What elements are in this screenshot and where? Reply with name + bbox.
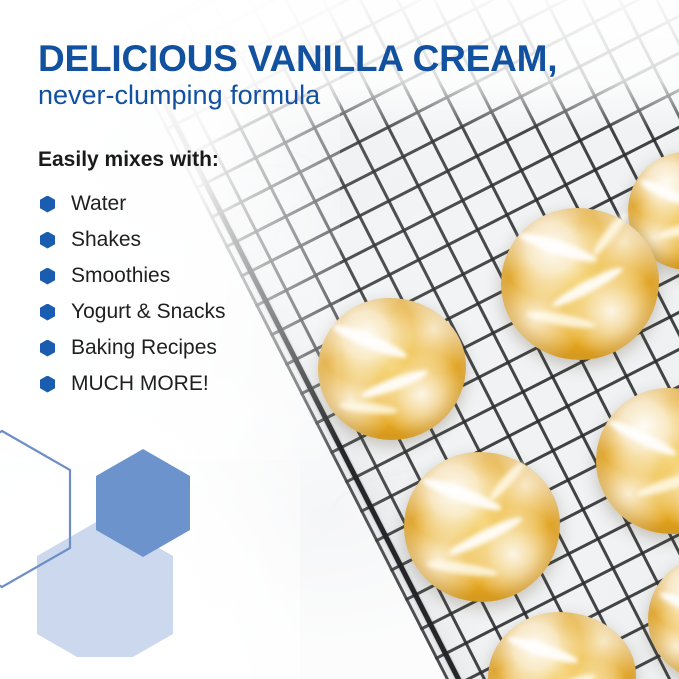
hexagon-bullet-icon	[40, 196, 55, 213]
cookie-crack	[506, 633, 580, 667]
cookie-crack	[638, 177, 679, 209]
cookie-crack	[590, 210, 631, 258]
hexagon-bullet-icon	[40, 376, 55, 393]
feature-list: Water Shakes Smoothies Yogurt & Snacks B…	[40, 186, 320, 402]
list-item: Baking Recipes	[40, 330, 320, 366]
cookie-crack	[526, 308, 596, 331]
cookie-crack	[425, 558, 498, 579]
page-title: DELICIOUS VANILLA CREAM,	[38, 38, 557, 80]
list-item: Shakes	[40, 222, 320, 258]
cookie	[318, 298, 466, 440]
list-item: Smoothies	[40, 258, 320, 294]
list-item: Water	[40, 186, 320, 222]
cookie-crack	[517, 229, 599, 267]
cookie-crack	[487, 459, 528, 503]
cookie-crack	[606, 416, 679, 460]
list-item-label: MUCH MORE!	[71, 372, 209, 396]
list-item-label: Smoothies	[71, 264, 170, 288]
hexagon-bullet-icon	[40, 232, 55, 249]
cookie-crack	[550, 263, 625, 311]
cookie-crack	[635, 469, 679, 500]
list-item-label: Water	[71, 192, 126, 216]
list-item: MUCH MORE!	[40, 366, 320, 402]
cookie-crack	[338, 400, 398, 416]
cookie-crack	[360, 366, 431, 402]
hexagon-bullet-icon	[40, 268, 55, 285]
cookie-crack	[330, 320, 409, 362]
list-item: Yogurt & Snacks	[40, 294, 320, 330]
cookie	[501, 208, 659, 360]
hexagon-bullet-icon	[40, 304, 55, 321]
list-item-label: Yogurt & Snacks	[71, 300, 226, 324]
cookie-crack	[446, 513, 524, 559]
list-item-label: Shakes	[71, 228, 141, 252]
feature-list-title: Easily mixes with:	[38, 148, 219, 172]
decorative-hexagon-group	[0, 417, 220, 657]
hexagon-bullet-icon	[40, 340, 55, 357]
cookie-crack	[658, 589, 679, 621]
cookie-crack	[538, 670, 597, 679]
cookie-crack	[656, 219, 679, 242]
page-subtitle: never-clumping formula	[38, 80, 320, 111]
cookie	[404, 452, 560, 602]
promo-banner: DELICIOUS VANILLA CREAM, never-clumping …	[0, 0, 679, 679]
list-item-label: Baking Recipes	[71, 336, 217, 360]
